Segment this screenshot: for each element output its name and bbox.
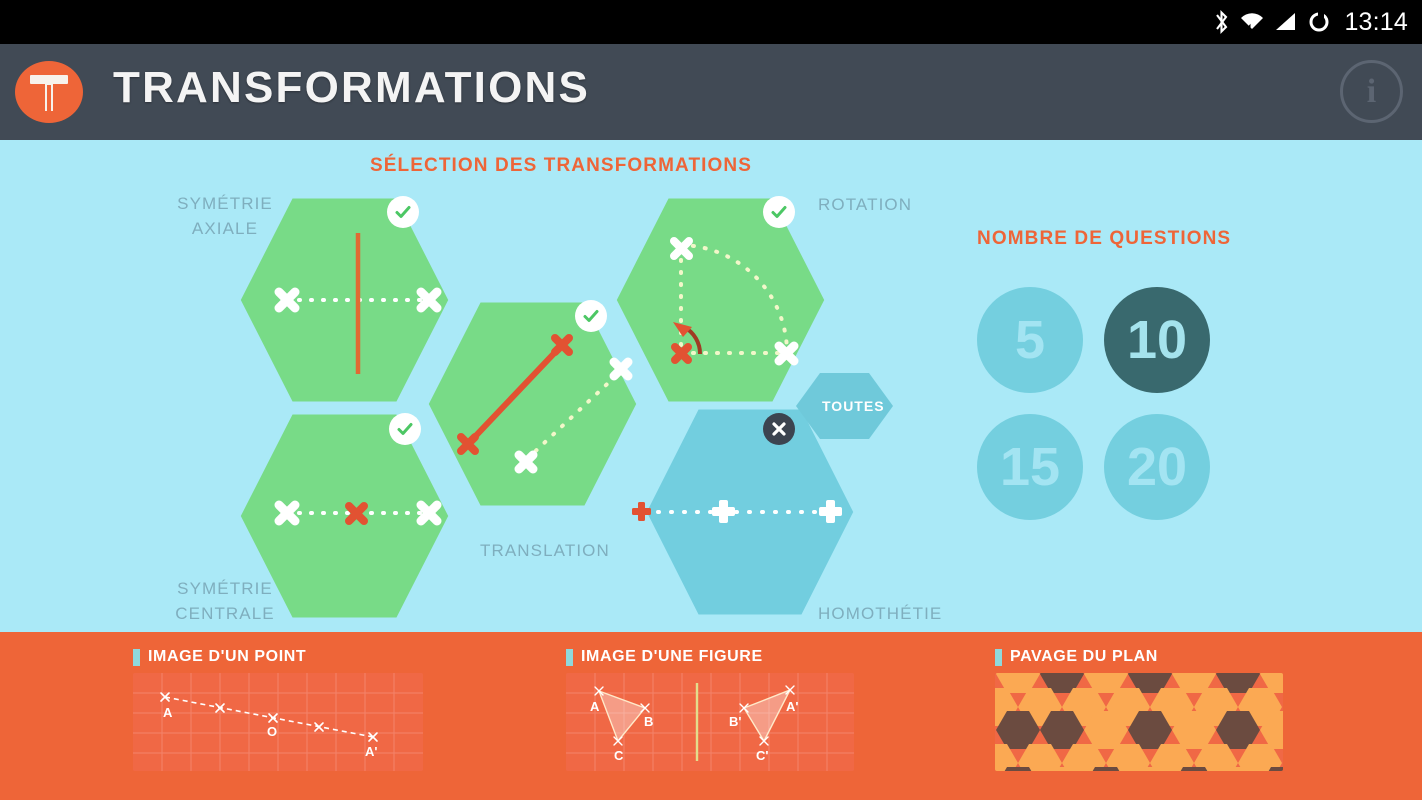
check-icon [393,202,413,222]
bullet-icon [995,649,1002,666]
question-count-option-20[interactable]: 20 [1104,414,1210,520]
badge-check-rotation[interactable] [763,196,795,228]
mode-card-label: IMAGE D'UNE FIGURE [581,648,763,666]
wifi-icon [1239,9,1265,35]
figure-label-a: A [590,699,600,714]
mode-card-label: PAVAGE DU PLAN [1010,648,1158,666]
question-count-option-5[interactable]: 5 [977,287,1083,393]
question-count-option-15[interactable]: 15 [977,414,1083,520]
hexagon-label-homothetie: HOMOTHÉTIE [818,602,958,627]
mode-card-title: IMAGE D'UN POINT [133,648,423,666]
point-label-a: A [163,705,173,720]
point-label-o: O [267,724,277,739]
bullet-icon [566,649,573,666]
signal-icon [1274,9,1298,35]
section-title-transformations: SÉLECTION DES TRANSFORMATIONS [370,155,752,177]
check-icon [769,202,789,222]
mode-card-image-dune-figure[interactable]: IMAGE D'UNE FIGURE [566,648,854,771]
bullet-icon [133,649,140,666]
label-line-1: SYMÉTRIE [160,192,290,217]
mode-card-preview: A B C B' A' C' [566,673,854,771]
app-header: TRANSFORMATIONS i [0,44,1422,140]
figure-label-aprime: A' [786,699,798,714]
mode-card-pavage-du-plan[interactable]: PAVAGE DU PLAN [995,648,1283,771]
status-icons-group: 13:14 [1213,0,1408,44]
sync-icon [1307,9,1331,35]
figure-label-c: C [614,748,624,763]
app-logo-icon [15,61,83,123]
label-line-2: AXIALE [160,217,290,242]
mode-card-title: IMAGE D'UNE FIGURE [566,648,854,666]
hexagon-label-symetrie-centrale: SYMÉTRIE CENTRALE [160,577,290,626]
badge-check-symetrie-centrale[interactable] [389,413,421,445]
hexagon-label-symetrie-axiale: SYMÉTRIE AXIALE [160,192,290,241]
figure-label-b: B [644,714,653,729]
badge-cross-homothetie[interactable] [763,413,795,445]
check-icon [581,306,601,326]
mode-card-label: IMAGE D'UN POINT [148,648,306,666]
label-line-1: SYMÉTRIE [160,577,290,602]
mode-card-preview [995,673,1283,771]
info-button[interactable]: i [1340,60,1403,123]
close-icon [770,420,788,438]
point-label-aprime: A' [365,744,377,759]
hexagon-toutes-label[interactable]: TOUTES [822,398,885,414]
figure-label-bprime: B' [729,714,741,729]
badge-check-translation[interactable] [575,300,607,332]
label-line-2: CENTRALE [160,602,290,627]
hexagon-label-rotation: ROTATION [818,193,958,218]
status-clock: 13:14 [1340,8,1408,37]
badge-check-symetrie-axiale[interactable] [387,196,419,228]
mode-card-preview: A O A' [133,673,423,771]
check-icon [395,419,415,439]
hexagon-label-translation: TRANSLATION [480,539,610,564]
mode-card-image-dun-point[interactable]: IMAGE D'UN POINT A O A [133,648,423,771]
mode-card-title: PAVAGE DU PLAN [995,648,1283,666]
app-root: 13:14 TRANSFORMATIONS i SÉLECTION DES TR… [0,0,1422,800]
figure-label-cprime: C' [756,748,768,763]
android-status-bar: 13:14 [0,0,1422,44]
bluetooth-icon [1213,9,1230,35]
question-count-option-10[interactable]: 10 [1104,287,1210,393]
section-title-questions: NOMBRE DE QUESTIONS [977,228,1231,250]
page-title: TRANSFORMATIONS [113,66,590,110]
